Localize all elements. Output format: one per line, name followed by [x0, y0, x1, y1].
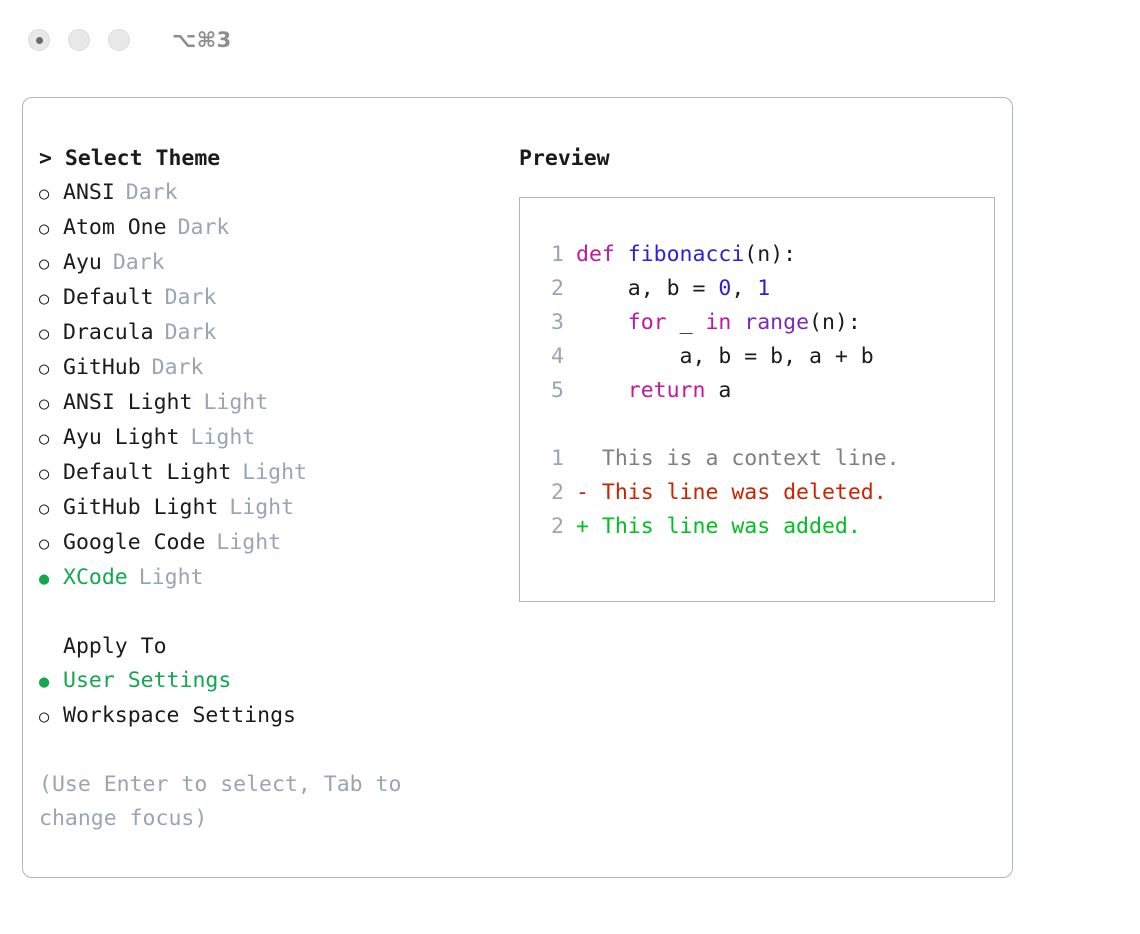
code-line: 4 a, b = b, a + b [538, 340, 994, 374]
theme-option-label: ANSI [63, 176, 115, 210]
code-snippet: 1def fibonacci(n):2 a, b = 0, 13 for _ i… [538, 238, 994, 408]
theme-option-category: Light [203, 386, 268, 420]
diff-line-text: This line was added. [589, 510, 861, 544]
code-preview-box: 1def fibonacci(n):2 a, b = 0, 13 for _ i… [519, 197, 995, 602]
apply-to-option-user-settings[interactable]: ●User Settings [39, 664, 499, 699]
theme-option-ansi[interactable]: ○ANSIDark [39, 176, 499, 211]
diff-line: 2- This line was deleted. [538, 476, 994, 510]
theme-option-dracula[interactable]: ○DraculaDark [39, 316, 499, 351]
code-token-var: a, b = [576, 276, 718, 301]
theme-option-category: Dark [113, 246, 165, 280]
code-line-content: def fibonacci(n): [576, 238, 796, 272]
apply-to-header: Apply To [39, 630, 499, 664]
diff-line-number: 2 [538, 476, 564, 510]
code-line-content: a, b = 0, 1 [576, 272, 770, 306]
diff-sign: + [576, 510, 589, 544]
theme-option-label: Default Light [63, 456, 231, 490]
zoom-button[interactable] [108, 29, 130, 51]
theme-option-ansi-light[interactable]: ○ANSI LightLight [39, 386, 499, 421]
theme-option-category: Light [139, 561, 204, 595]
code-token-var: _ [680, 310, 706, 335]
radio-unselected-icon: ○ [39, 492, 63, 526]
theme-option-category: Light [242, 456, 307, 490]
keyboard-shortcut-label: ⌥⌘3 [172, 28, 232, 52]
theme-option-label: ANSI Light [63, 386, 192, 420]
apply-to-option-label: User Settings [63, 664, 231, 698]
theme-option-category: Dark [165, 281, 217, 315]
code-line: 2 a, b = 0, 1 [538, 272, 994, 306]
radio-selected-icon: ● [39, 562, 63, 596]
code-token-var: , [731, 276, 757, 301]
code-token-num: 0 [718, 276, 731, 301]
main-panel: > Select Theme ○ANSIDark○Atom OneDark○Ay… [22, 97, 1013, 878]
radio-selected-icon: ● [39, 665, 63, 699]
theme-option-label: Default [63, 281, 154, 315]
theme-option-label: XCode [63, 561, 128, 595]
theme-option-default[interactable]: ○DefaultDark [39, 281, 499, 316]
diff-line-text: This line was deleted. [589, 476, 887, 510]
apply-to-option-workspace-settings[interactable]: ○Workspace Settings [39, 699, 499, 734]
code-token-kw: return [576, 378, 718, 403]
code-line: 3 for _ in range(n): [538, 306, 994, 340]
theme-option-label: GitHub [63, 351, 141, 385]
hint-text: (Use Enter to select, Tab to change focu… [39, 768, 459, 836]
radio-unselected-icon: ○ [39, 212, 63, 246]
minimize-button[interactable] [68, 29, 90, 51]
code-token-var: a, b = b, a + b [576, 344, 874, 369]
code-token-punc: ): [770, 242, 796, 267]
preview-column: Preview 1def fibonacci(n):2 a, b = 0, 13… [499, 142, 1012, 836]
theme-option-github[interactable]: ○GitHubDark [39, 351, 499, 386]
code-token-kw: in [705, 310, 744, 335]
theme-option-default-light[interactable]: ○Default LightLight [39, 456, 499, 491]
app-window: ⌥⌘3 > Select Theme ○ANSIDark○Atom OneDar… [0, 0, 1140, 934]
theme-option-label: Google Code [63, 526, 205, 560]
theme-option-category: Light [229, 491, 294, 525]
apply-to-option-label: Workspace Settings [63, 699, 296, 733]
code-token-punc: ( [744, 242, 757, 267]
code-token-var: a [718, 378, 731, 403]
theme-option-category: Light [191, 421, 256, 455]
diff-line-number: 1 [538, 442, 564, 476]
close-button[interactable] [28, 29, 50, 51]
code-token-var: n [757, 242, 770, 267]
theme-option-label: Atom One [63, 211, 167, 245]
theme-option-google-code[interactable]: ○Google CodeLight [39, 526, 499, 561]
theme-option-ayu[interactable]: ○AyuDark [39, 246, 499, 281]
radio-unselected-icon: ○ [39, 352, 63, 386]
diff-sign [576, 442, 589, 476]
code-line-content: return a [576, 374, 731, 408]
title-bar: ⌥⌘3 [0, 0, 1140, 80]
theme-option-category: Dark [165, 316, 217, 350]
theme-option-github-light[interactable]: ○GitHub LightLight [39, 491, 499, 526]
radio-unselected-icon: ○ [39, 177, 63, 211]
theme-option-category: Dark [126, 176, 178, 210]
radio-unselected-icon: ○ [39, 282, 63, 316]
list-spacer [39, 596, 499, 630]
code-token-fn: fibonacci [628, 242, 745, 267]
traffic-light-group [28, 29, 130, 51]
theme-list: ○ANSIDark○Atom OneDark○AyuDark○DefaultDa… [39, 176, 499, 596]
close-dot-icon [36, 37, 43, 44]
code-line-content: a, b = b, a + b [576, 340, 874, 374]
code-token-kw: for [576, 310, 680, 335]
theme-option-ayu-light[interactable]: ○Ayu LightLight [39, 421, 499, 456]
panel-columns: > Select Theme ○ANSIDark○Atom OneDark○Ay… [23, 98, 1012, 836]
code-line: 1def fibonacci(n): [538, 238, 994, 272]
code-token-kw: def [576, 242, 628, 267]
theme-option-xcode[interactable]: ●XCodeLight [39, 561, 499, 596]
radio-unselected-icon: ○ [39, 317, 63, 351]
radio-unselected-icon: ○ [39, 457, 63, 491]
code-line-number: 4 [538, 340, 564, 374]
theme-option-category: Dark [178, 211, 230, 245]
code-line-number: 2 [538, 272, 564, 306]
preview-title: Preview [519, 142, 1012, 176]
code-line-number: 5 [538, 374, 564, 408]
radio-unselected-icon: ○ [39, 422, 63, 456]
theme-option-category: Dark [152, 351, 204, 385]
code-line-number: 3 [538, 306, 564, 340]
radio-unselected-icon: ○ [39, 527, 63, 561]
theme-option-category: Light [216, 526, 281, 560]
code-diff-gap [538, 408, 994, 442]
theme-option-label: GitHub Light [63, 491, 218, 525]
diff-sign: - [576, 476, 589, 510]
theme-picker-column: > Select Theme ○ANSIDark○Atom OneDark○Ay… [39, 142, 499, 836]
radio-unselected-icon: ○ [39, 247, 63, 281]
code-line-content: for _ in range(n): [576, 306, 861, 340]
diff-line: 2+ This line was added. [538, 510, 994, 544]
code-line-number: 1 [538, 238, 564, 272]
theme-option-label: Dracula [63, 316, 154, 350]
diff-snippet: 1 This is a context line.2- This line wa… [538, 442, 994, 544]
radio-unselected-icon: ○ [39, 700, 63, 734]
code-token-call: range [744, 310, 809, 335]
radio-unselected-icon: ○ [39, 387, 63, 421]
code-token-num: 1 [757, 276, 770, 301]
theme-option-atom-one[interactable]: ○Atom OneDark [39, 211, 499, 246]
diff-line-number: 2 [538, 510, 564, 544]
diff-line-text: This is a context line. [589, 442, 900, 476]
code-token-punc: (n): [809, 310, 861, 335]
theme-option-label: Ayu Light [63, 421, 180, 455]
select-theme-header: > Select Theme [39, 142, 499, 176]
diff-line: 1 This is a context line. [538, 442, 994, 476]
apply-to-list: ●User Settings○Workspace Settings [39, 664, 499, 734]
theme-option-label: Ayu [63, 246, 102, 280]
code-line: 5 return a [538, 374, 994, 408]
